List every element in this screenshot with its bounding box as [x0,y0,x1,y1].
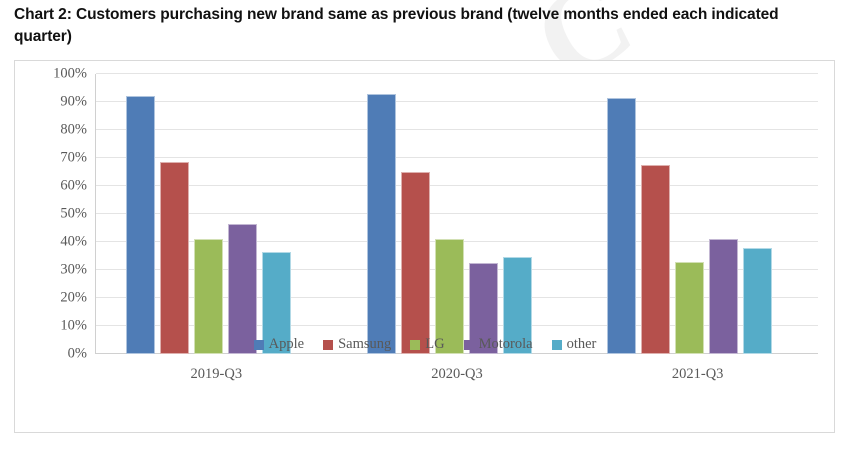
bar-group: 2019-Q3 [96,74,337,354]
legend-label: Samsung [338,336,391,353]
y-axis-tick-label: 40% [60,234,87,251]
legend-label: Apple [269,336,304,353]
x-axis-tick-label: 2019-Q3 [96,366,337,383]
legend-label: LG [425,336,444,353]
y-axis-tick-label: 30% [60,262,87,279]
legend-item-lg[interactable]: LG [410,336,444,353]
legend-swatch-icon [254,340,264,350]
bar-samsung-2021-Q3[interactable] [641,165,670,354]
bar-apple-2020-Q3[interactable] [367,94,396,354]
legend-label: Motorola [479,336,533,353]
y-axis-tick-label: 80% [60,122,87,139]
y-axis-tick-label: 70% [60,150,87,167]
chart-plot-frame: 0%10%20%30%40%50%60%70%80%90%100% 2019-Q… [14,60,835,433]
bar-samsung-2020-Q3[interactable] [401,172,430,354]
y-axis-tick-label: 20% [60,290,87,307]
legend-label: other [567,336,597,353]
y-axis-tick-label: 50% [60,206,87,223]
page-title: Chart 2: Customers purchasing new brand … [14,4,826,48]
bar-group: 2021-Q3 [577,74,818,354]
bar-samsung-2019-Q3[interactable] [160,162,189,354]
x-axis-tick-label: 2021-Q3 [577,366,818,383]
bar-motorola-2019-Q3[interactable] [228,224,257,354]
y-axis-tick-label: 90% [60,94,87,111]
legend-item-apple[interactable]: Apple [254,336,304,353]
chart-legend: AppleSamsungLGMotorolaother [0,336,850,353]
y-axis-tick-label: 60% [60,178,87,195]
x-axis-tick-label: 2020-Q3 [337,366,578,383]
bar-apple-2021-Q3[interactable] [607,98,636,354]
y-axis-tick-label: 100% [53,66,87,83]
y-axis-tick-label: 10% [60,318,87,335]
legend-item-samsung[interactable]: Samsung [323,336,391,353]
legend-swatch-icon [410,340,420,350]
legend-swatch-icon [464,340,474,350]
legend-item-motorola[interactable]: Motorola [464,336,533,353]
legend-swatch-icon [323,340,333,350]
bar-group: 2020-Q3 [337,74,578,354]
legend-swatch-icon [552,340,562,350]
legend-item-other[interactable]: other [552,336,597,353]
chart-plot-area: 0%10%20%30%40%50%60%70%80%90%100% 2019-Q… [96,74,818,354]
bar-apple-2019-Q3[interactable] [126,96,155,354]
